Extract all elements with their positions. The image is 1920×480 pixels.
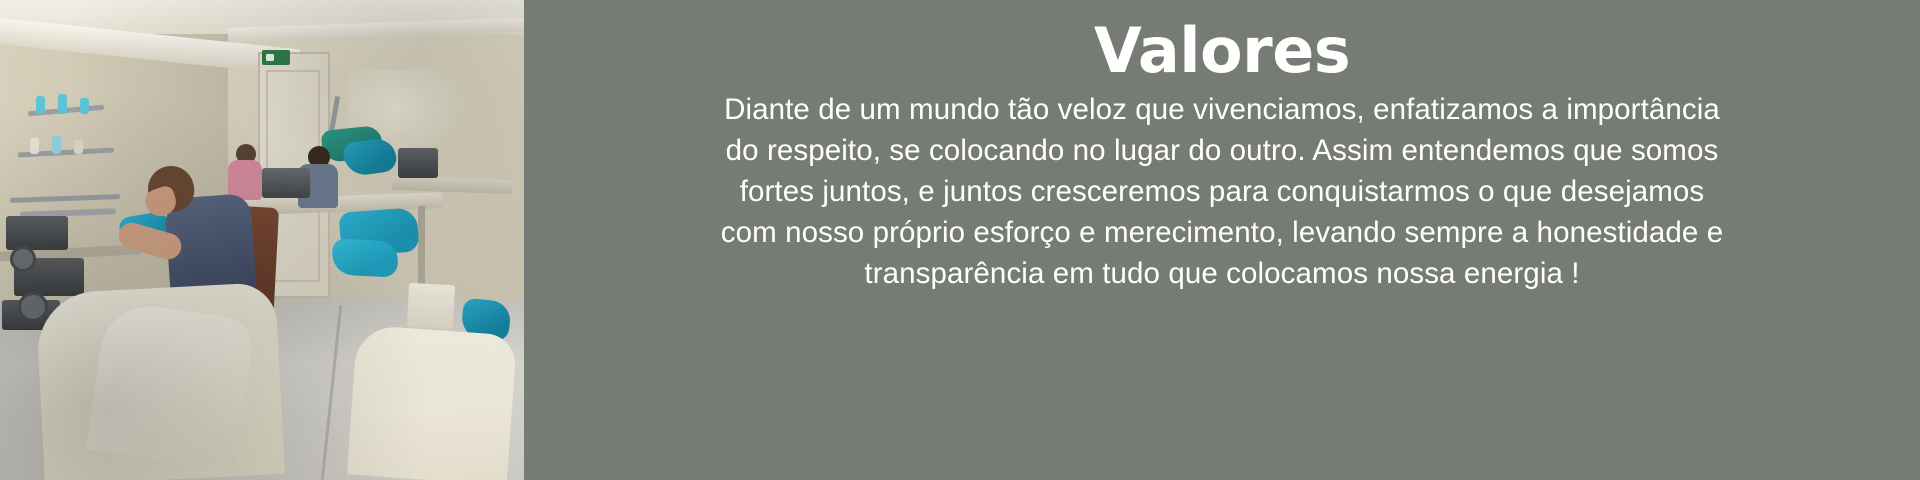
- photo-sewing-machine: [398, 148, 438, 178]
- values-paragraph: Diante de um mundo tão veloz que vivenci…: [717, 89, 1727, 294]
- photo-white-fabric-fold: [86, 300, 255, 469]
- photo-white-fabric-pile: [347, 325, 517, 480]
- photo-teal-fabric: [331, 238, 399, 277]
- photo-exit-sign: [262, 50, 290, 65]
- photo-storage-bin: [407, 283, 455, 329]
- photo-thread-spool: [30, 138, 39, 154]
- sewing-workshop-photo: [0, 0, 524, 480]
- photo-thread-spool: [52, 136, 61, 154]
- photo-thread-spool: [58, 94, 67, 114]
- photo-sewing-machine: [262, 168, 310, 198]
- photo-machine-wheel: [10, 246, 36, 272]
- photo-thread-spool: [36, 96, 45, 114]
- photo-thread-spool: [80, 98, 89, 114]
- photo-thread-spool: [74, 140, 83, 154]
- photo-machine-wheel: [18, 292, 48, 322]
- values-banner: Valores Diante de um mundo tão veloz que…: [0, 0, 1920, 480]
- photo-sewing-machine: [6, 216, 68, 250]
- photo-table-leg: [418, 206, 425, 284]
- values-text-panel: Valores Diante de um mundo tão veloz que…: [524, 0, 1920, 480]
- page-title: Valores: [1094, 18, 1350, 83]
